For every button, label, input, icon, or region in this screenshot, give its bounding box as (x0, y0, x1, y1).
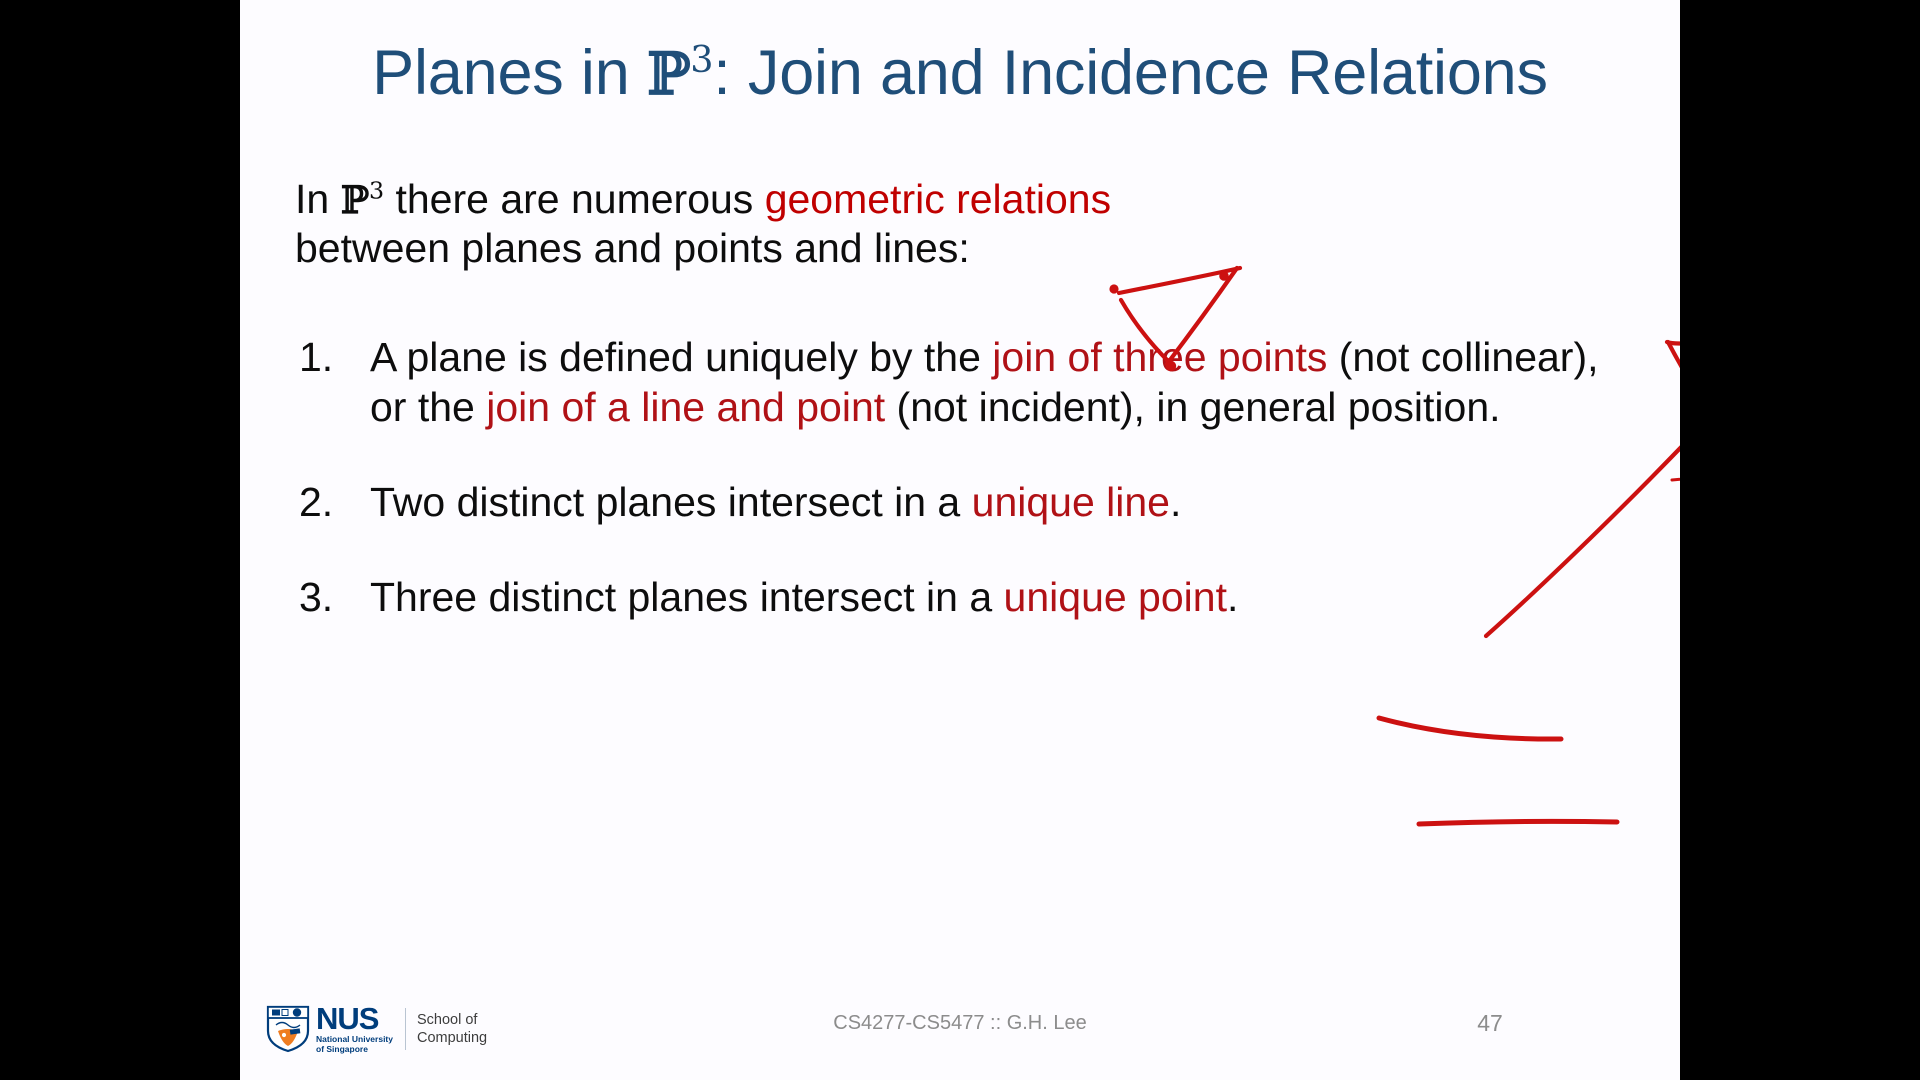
slide-canvas: Planes in ℙ3: Join and Incidence Relatio… (240, 0, 1680, 1080)
segment-text: Three distinct planes intersect in a (370, 574, 1004, 620)
list-item-number: 2. (299, 478, 351, 527)
ink-underline-unique-line (1379, 718, 1561, 739)
list-item: 1. A plane is defined uniquely by the jo… (295, 333, 1625, 431)
intro-superscript: 3 (369, 176, 384, 204)
nus-wordmark: NUS National University of Singapore (316, 1004, 393, 1055)
segment-text: A plane is defined uniquely by the (370, 334, 992, 380)
intro-paragraph: In ℙ3 there are numerous geometric relat… (295, 175, 1255, 273)
nus-crest-icon (266, 1005, 310, 1053)
nus-acronym: NUS (316, 1004, 393, 1033)
list-item-text: Three distinct planes intersect in a uni… (370, 573, 1625, 622)
highlight-unique-line: unique line (972, 479, 1170, 525)
list-item: 3. Three distinct planes intersect in a … (295, 573, 1625, 622)
list-item-number: 3. (299, 573, 351, 622)
title-prefix: Planes in (372, 38, 647, 108)
list-item-text: A plane is defined uniquely by the join … (370, 333, 1625, 431)
letterbox-left (0, 0, 240, 1080)
segment-text: . (1170, 479, 1181, 525)
intro-blackboard-p: ℙ (341, 178, 369, 222)
segment-text: . (1227, 574, 1238, 620)
ink-plane-top-edge (1667, 338, 1680, 343)
segment-text: Two distinct planes intersect in a (370, 479, 972, 525)
list-item-text: Two distinct planes intersect in a uniqu… (370, 478, 1625, 527)
highlight-join-of-line-and-point: join of a line and point (486, 384, 885, 430)
intro-seg-b: there are numerous (384, 176, 765, 222)
nus-fullname: National University of Singapore (316, 1035, 393, 1055)
nus-school-line2: Computing (417, 1029, 487, 1047)
highlight-unique-point: unique point (1004, 574, 1227, 620)
list-item-number: 1. (299, 333, 351, 382)
nus-school-line1: School of (417, 1011, 487, 1029)
slide-viewer: Planes in ℙ3: Join and Incidence Relatio… (0, 0, 1920, 1080)
title-blackboard-p: ℙ (647, 40, 690, 108)
ink-plane-left-edge (1668, 342, 1680, 508)
slide-body: In ℙ3 there are numerous geometric relat… (295, 175, 1625, 668)
nus-school-name: School of Computing (417, 1011, 487, 1047)
numbered-list: 1. A plane is defined uniquely by the jo… (295, 333, 1625, 622)
footer-page-number: 47 (1430, 1010, 1550, 1037)
title-suffix: : Join and Incidence Relations (713, 38, 1548, 108)
intro-highlight: geometric relations (765, 176, 1111, 222)
intro-seg-a: In (295, 176, 341, 222)
nus-logo: NUS National University of Singapore Sch… (266, 998, 506, 1060)
segment-text: (not incident), in general position. (885, 384, 1500, 430)
intro-line2: between planes and points and lines: (295, 224, 1255, 273)
title-superscript: 3 (690, 38, 713, 81)
ink-sweep-under-three (1672, 476, 1680, 493)
letterbox-right (1680, 0, 1920, 1080)
list-item: 2. Two distinct planes intersect in a un… (295, 478, 1625, 527)
logo-divider (405, 1008, 406, 1050)
ink-underline-unique-point (1419, 821, 1617, 824)
highlight-join-of-three-points: join of three points (992, 334, 1327, 380)
nus-fullname-line2: of Singapore (316, 1045, 393, 1055)
page-title: Planes in ℙ3: Join and Incidence Relatio… (240, 40, 1680, 106)
